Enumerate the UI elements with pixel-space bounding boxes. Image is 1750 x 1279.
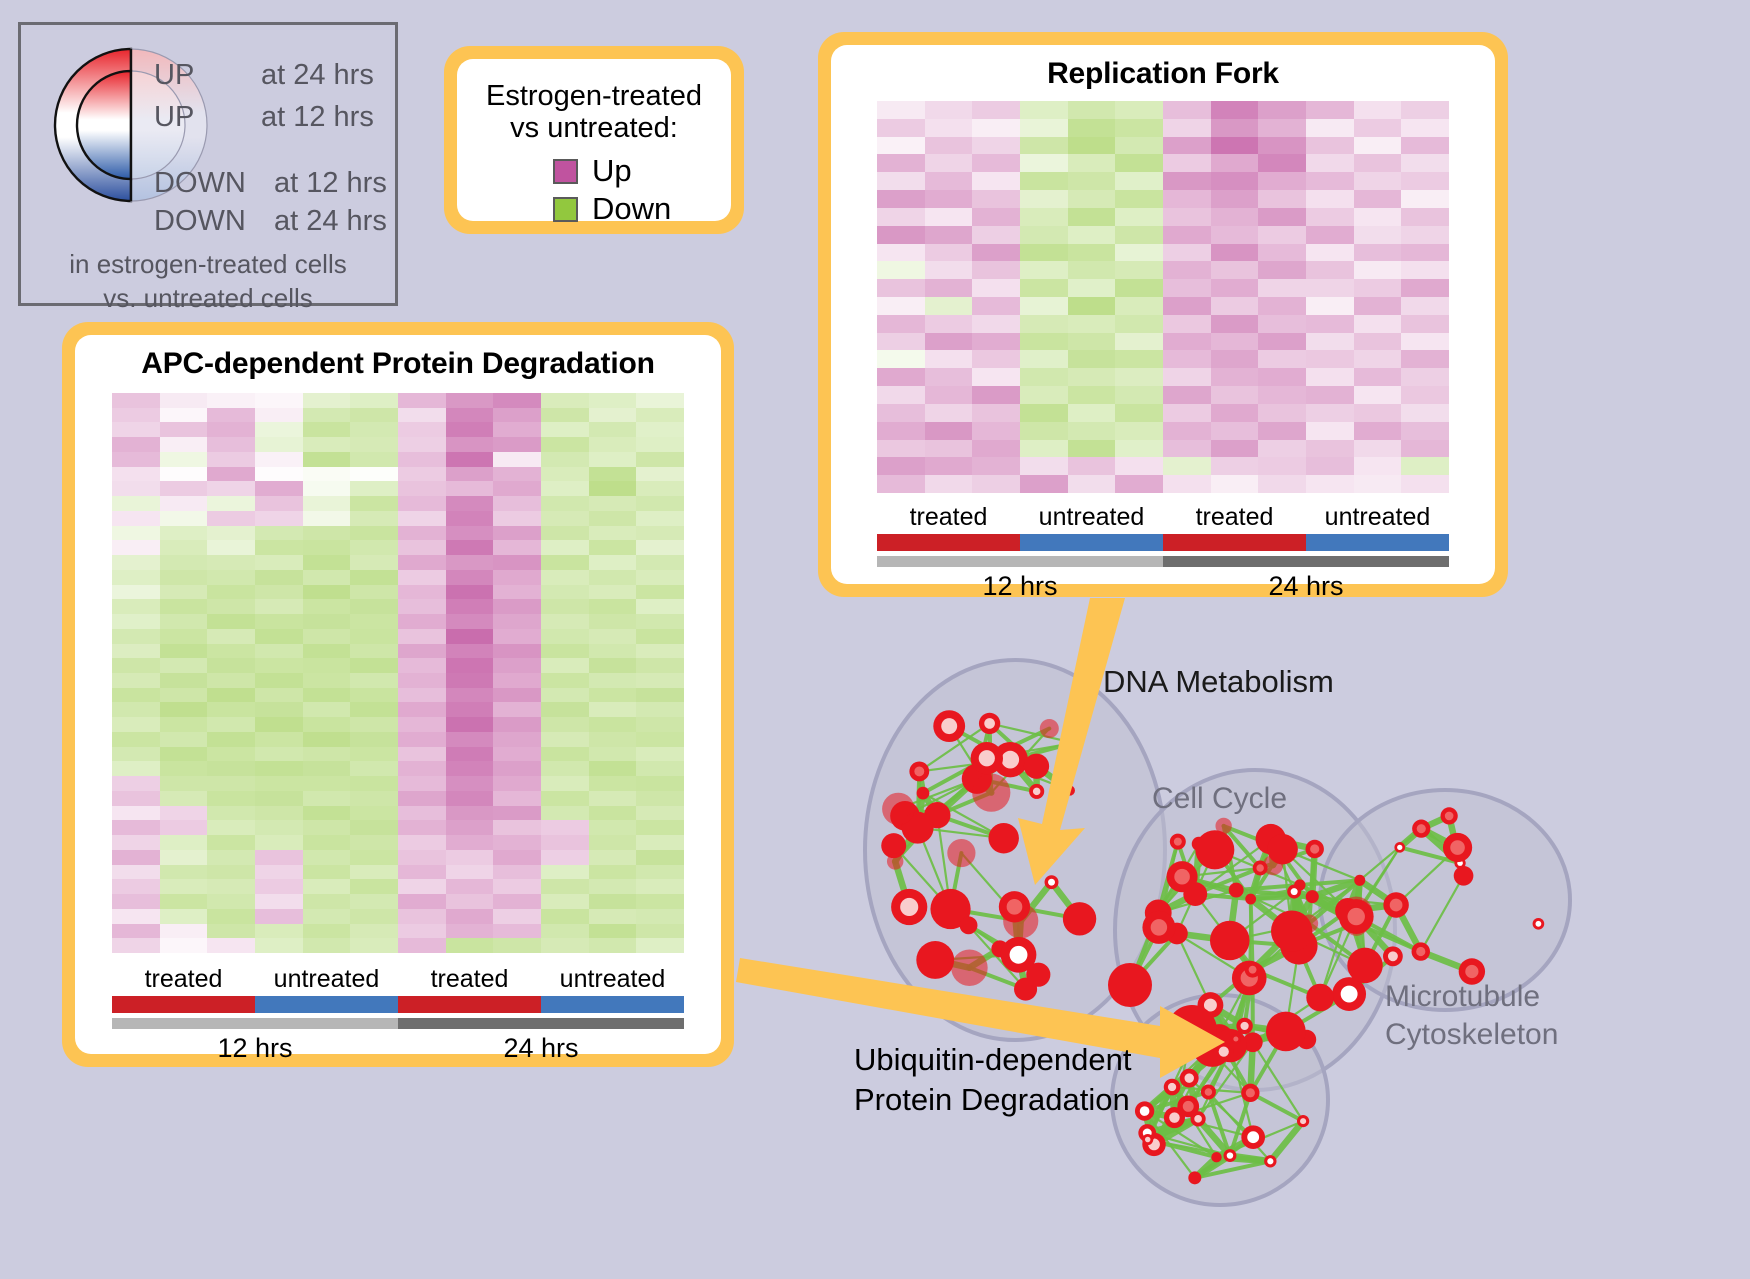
heatmap-cell [493, 570, 541, 585]
sample-label-untreated-24: untreated [1306, 503, 1449, 532]
heatmap-cell [446, 585, 494, 600]
heatmap-cell [398, 909, 446, 924]
color-key-footer-line1: in estrogen-treated cells [21, 247, 395, 281]
heatmap-cell [1115, 333, 1163, 351]
heatmap-cell [589, 806, 637, 821]
heatmap-cell [255, 526, 303, 541]
heatmap-cell [112, 717, 160, 732]
heatmap-cell [160, 437, 208, 452]
heatmap-cell [925, 297, 973, 315]
heatmap-cell [493, 496, 541, 511]
heatmap-cell [925, 137, 973, 155]
heatmap-cell [589, 540, 637, 555]
heatmap-cell [541, 408, 589, 423]
heatmap-cell [160, 688, 208, 703]
heatmap-cell [160, 894, 208, 909]
heatmap-cell [1020, 261, 1068, 279]
heatmap-cell [541, 599, 589, 614]
heatmap-cell [589, 437, 637, 452]
heatmap-cell [398, 747, 446, 762]
heatmap-cell [350, 924, 398, 939]
heatmap-cell [112, 408, 160, 423]
heatmap-cell [1115, 190, 1163, 208]
heatmap-cell [493, 585, 541, 600]
heatmap-cell [972, 386, 1020, 404]
heatmap-cell [303, 806, 351, 821]
heatmap-cell [207, 717, 255, 732]
heatmap-cell [1401, 422, 1449, 440]
cluster-label-dna-metabolism: DNA Metabolism [1103, 664, 1334, 700]
heatmap-cell [1354, 457, 1402, 475]
heatmap-cell [925, 404, 973, 422]
heatmap-cell [1211, 457, 1259, 475]
heatmap-cell [1163, 404, 1211, 422]
heatmap-cell [398, 702, 446, 717]
heatmap-cell [1401, 154, 1449, 172]
heatmap-cell [255, 909, 303, 924]
heatmap-cell [636, 644, 684, 659]
heatmap-cell [1211, 315, 1259, 333]
heatmap-cell [541, 467, 589, 482]
heatmap-cell [493, 791, 541, 806]
bar-time-24 [1163, 556, 1449, 567]
heatmap-cell [1401, 261, 1449, 279]
heatmap-cell [877, 137, 925, 155]
heatmap-cell [350, 408, 398, 423]
heatmap-cell [493, 688, 541, 703]
heatmap-cell [541, 393, 589, 408]
heatmap-cell [446, 570, 494, 585]
heatmap-cell [255, 452, 303, 467]
heatmap-cell [1211, 368, 1259, 386]
heatmap-cell [446, 717, 494, 732]
heatmap-cell [877, 172, 925, 190]
heatmap-cell [446, 452, 494, 467]
heatmap-cell [925, 350, 973, 368]
bar-untreated-12 [255, 996, 398, 1013]
heatmap-cell [1354, 208, 1402, 226]
heatmap-cell [112, 481, 160, 496]
panel-title-replication-fork: Replication Fork [831, 45, 1495, 91]
heatmap-cell [303, 393, 351, 408]
heatmap-cell [541, 540, 589, 555]
heatmap-cell [1306, 475, 1354, 493]
heatmap-cell [112, 658, 160, 673]
legend-box: Estrogen-treated vs untreated: Up Down [444, 46, 744, 234]
heatmap-cell [1401, 208, 1449, 226]
heatmap-cell [398, 467, 446, 482]
heatmap-cell [207, 879, 255, 894]
bar-untreated-24 [541, 996, 684, 1013]
heatmap-cell [255, 702, 303, 717]
heatmap-cell [589, 673, 637, 688]
sample-label-treated-24: treated [1163, 503, 1306, 532]
heatmap-cell [1258, 244, 1306, 262]
heatmap-cell [112, 496, 160, 511]
heatmap-cell [1258, 386, 1306, 404]
heatmap-cell [207, 452, 255, 467]
heatmap-cell [1163, 190, 1211, 208]
heatmap-cell [1068, 101, 1116, 119]
heatmap-cell [972, 368, 1020, 386]
heatmap-cell [1306, 101, 1354, 119]
heatmap-cell [350, 909, 398, 924]
heatmap-cell [541, 644, 589, 659]
heatmap-cell [925, 154, 973, 172]
heatmap-cell [398, 422, 446, 437]
panel-replication-fork: Replication Fork treated untreated treat… [818, 32, 1508, 597]
heatmap-cell [1020, 190, 1068, 208]
heatmap-cell [877, 119, 925, 137]
heatmap-cell [207, 924, 255, 939]
heatmap-cell [1020, 279, 1068, 297]
heatmap-cell [112, 806, 160, 821]
heatmap-cell [636, 924, 684, 939]
heatmap-cell [1401, 226, 1449, 244]
heatmap-cell [112, 599, 160, 614]
heatmap-cell [636, 761, 684, 776]
heatmap-cell [207, 422, 255, 437]
heatmap-cell [350, 644, 398, 659]
heatmap-cell [207, 393, 255, 408]
heatmap-cell [972, 297, 1020, 315]
heatmap-cell [1163, 457, 1211, 475]
heatmap-cell [303, 629, 351, 644]
heatmap-cell [446, 511, 494, 526]
heatmap-cell [493, 629, 541, 644]
heatmap-cell [589, 909, 637, 924]
heatmap-cell [1020, 172, 1068, 190]
heatmap-cell [1258, 137, 1306, 155]
heatmap-cell [398, 894, 446, 909]
heatmap-cell [1306, 190, 1354, 208]
heatmap-cell [541, 894, 589, 909]
heatmap-cell [636, 732, 684, 747]
heatmap-cell [303, 791, 351, 806]
heatmap-cell [877, 226, 925, 244]
heatmap-cell [112, 850, 160, 865]
heatmap-cell [541, 850, 589, 865]
heatmap-cell [589, 644, 637, 659]
heatmap-cell [541, 747, 589, 762]
heatmap-cell [303, 570, 351, 585]
heatmap-cell [112, 673, 160, 688]
heatmap-cell [925, 261, 973, 279]
heatmap-cell [255, 850, 303, 865]
heatmap-cell [541, 791, 589, 806]
heatmap-cell [446, 850, 494, 865]
heatmap-cell [446, 879, 494, 894]
heatmap-cell [207, 585, 255, 600]
heatmap-cell [636, 629, 684, 644]
heatmap-cell [207, 732, 255, 747]
heatmap-cell [303, 511, 351, 526]
heatmap-cell [636, 422, 684, 437]
heatmap-cell [303, 599, 351, 614]
heatmap-cell [972, 190, 1020, 208]
heatmap-cell [160, 496, 208, 511]
heatmap-cell [636, 776, 684, 791]
heatmap-cell [1020, 226, 1068, 244]
heatmap-cell [350, 761, 398, 776]
heatmap-cell [1354, 404, 1402, 422]
heatmap-cell [636, 673, 684, 688]
heatmap-cell [1354, 440, 1402, 458]
heatmap-cell [112, 791, 160, 806]
heatmap-cell [1354, 101, 1402, 119]
sample-label-treated-24: treated [398, 965, 541, 994]
heatmap-cell [446, 599, 494, 614]
heatmap-cell [493, 599, 541, 614]
heatmap-cell [493, 924, 541, 939]
bar-untreated-12 [1020, 534, 1163, 551]
legend-swatch-up-icon [553, 159, 578, 184]
heatmap-cell [160, 820, 208, 835]
heatmap-cell [1211, 101, 1259, 119]
heatmap-cell [255, 938, 303, 953]
heatmap-cell [972, 350, 1020, 368]
heatmap-cell [541, 570, 589, 585]
heatmap-cell [541, 511, 589, 526]
heatmap-cell [493, 540, 541, 555]
heatmap-cell [350, 629, 398, 644]
heatmap-cell [636, 820, 684, 835]
heatmap-cell [1306, 440, 1354, 458]
heatmap-cell [303, 702, 351, 717]
heatmap-cell [493, 614, 541, 629]
heatmap-cell [1115, 154, 1163, 172]
heatmap-cell [446, 614, 494, 629]
heatmap-cell [972, 208, 1020, 226]
heatmap-cell [1401, 457, 1449, 475]
heatmap-cell [589, 526, 637, 541]
heatmap-cell [636, 658, 684, 673]
heatmap-cell [398, 570, 446, 585]
heatmap-cell [925, 101, 973, 119]
heatmap-cell [446, 437, 494, 452]
heatmap-cell [255, 644, 303, 659]
heatmap-cell [636, 909, 684, 924]
heatmap-cell [112, 761, 160, 776]
sample-annotation-apc: treated untreated treated untreated 12 h… [112, 965, 684, 1064]
heatmap-cell [589, 688, 637, 703]
heatmap-cell [1401, 350, 1449, 368]
heatmap-cell [925, 315, 973, 333]
bar-treated-12 [877, 534, 1020, 551]
heatmap-cell [207, 437, 255, 452]
heatmap-cell [255, 555, 303, 570]
heatmap-cell [303, 496, 351, 511]
heatmap-cell [1354, 190, 1402, 208]
heatmap-cell [160, 393, 208, 408]
heatmap-cell [541, 526, 589, 541]
heatmap-cell [1211, 440, 1259, 458]
heatmap-cell [350, 865, 398, 880]
heatmap-cell [446, 422, 494, 437]
heatmap-cell [541, 688, 589, 703]
heatmap-cell [303, 540, 351, 555]
heatmap-cell [303, 437, 351, 452]
bar-treated-24 [398, 996, 541, 1013]
heatmap-cell [1211, 279, 1259, 297]
heatmap-cell [636, 688, 684, 703]
heatmap-cell [1020, 333, 1068, 351]
heatmap-cell [1068, 422, 1116, 440]
heatmap-cell [1401, 333, 1449, 351]
heatmap-cell [1354, 119, 1402, 137]
heatmap-cell [1211, 475, 1259, 493]
heatmap-cell [207, 835, 255, 850]
heatmap-cell [160, 865, 208, 880]
heatmap-cell [589, 511, 637, 526]
heatmap-cell [303, 732, 351, 747]
heatmap-cell [207, 467, 255, 482]
sample-label-treated-12: treated [877, 503, 1020, 532]
heatmap-cell [1258, 172, 1306, 190]
heatmap-cell [1211, 154, 1259, 172]
heatmap-cell [1354, 154, 1402, 172]
heatmap-cell [112, 540, 160, 555]
heatmap-cell [112, 644, 160, 659]
heatmap-cell [350, 717, 398, 732]
heatmap-cell [1020, 475, 1068, 493]
heatmap-cell [303, 761, 351, 776]
heatmap-cell [350, 481, 398, 496]
heatmap-cell [207, 599, 255, 614]
heatmap-cell [207, 408, 255, 423]
heatmap-cell [541, 732, 589, 747]
heatmap-cell [207, 865, 255, 880]
heatmap-cell [1258, 190, 1306, 208]
heatmap-cell [112, 747, 160, 762]
heatmap-cell [255, 688, 303, 703]
heatmap-cell [541, 909, 589, 924]
heatmap-cell [1115, 261, 1163, 279]
heatmap-cell [1211, 244, 1259, 262]
heatmap-cell [112, 452, 160, 467]
heatmap-cell [398, 481, 446, 496]
heatmap-cell [1306, 226, 1354, 244]
heatmap-cell [303, 717, 351, 732]
heatmap-cell [493, 850, 541, 865]
heatmap-cell [1401, 297, 1449, 315]
sample-annotation-replication-fork: treated untreated treated untreated 12 h… [877, 503, 1449, 602]
heatmap-cell [1068, 475, 1116, 493]
heatmap-cell [925, 368, 973, 386]
heatmap-cell [255, 806, 303, 821]
heatmap-cell [1258, 350, 1306, 368]
heatmap-cell [1020, 154, 1068, 172]
heatmap-cell [1258, 333, 1306, 351]
heatmap-cell [1211, 404, 1259, 422]
heatmap-cell [925, 226, 973, 244]
heatmap-cell [589, 422, 637, 437]
heatmap-cell [541, 835, 589, 850]
heatmap-cell [350, 658, 398, 673]
heatmap-cell [398, 452, 446, 467]
heatmap-cell [1115, 315, 1163, 333]
heatmap-cell [303, 924, 351, 939]
heatmap-cell [541, 658, 589, 673]
heatmap-cell [589, 879, 637, 894]
heatmap-cell [1163, 333, 1211, 351]
heatmap-cell [1163, 315, 1211, 333]
heatmap-cell [160, 570, 208, 585]
heatmap-cell [1068, 404, 1116, 422]
heatmap-cell [1306, 315, 1354, 333]
time-label-12: 12 hrs [877, 571, 1163, 602]
heatmap-cell [303, 673, 351, 688]
heatmap-cell [112, 894, 160, 909]
heatmap-cell [1211, 172, 1259, 190]
heatmap-cell [925, 279, 973, 297]
heatmap-cell [1258, 315, 1306, 333]
heatmap-cell [1020, 350, 1068, 368]
heatmap-cell [877, 404, 925, 422]
heatmap-cell [636, 835, 684, 850]
heatmap-cell [1163, 119, 1211, 137]
heatmap-cell [446, 791, 494, 806]
heatmap-cell [877, 190, 925, 208]
heatmap-cell [350, 747, 398, 762]
heatmap-cell [398, 717, 446, 732]
heatmap-cell [350, 732, 398, 747]
heatmap-cell [1354, 386, 1402, 404]
heatmap-cell [1163, 172, 1211, 190]
heatmap-cell [1068, 190, 1116, 208]
heatmap-cell [877, 315, 925, 333]
heatmap-cell [589, 658, 637, 673]
heatmap-cell [589, 481, 637, 496]
heatmap-cell [1354, 333, 1402, 351]
heatmap-cell [1306, 208, 1354, 226]
heatmap-cell [446, 732, 494, 747]
heatmap-cell [207, 938, 255, 953]
heatmap-cell [398, 599, 446, 614]
heatmap-cell [160, 614, 208, 629]
heatmap-cell [350, 776, 398, 791]
heatmap-cell [255, 467, 303, 482]
heatmap-cell [972, 475, 1020, 493]
heatmap-cell [446, 924, 494, 939]
treatment-color-bar [112, 996, 684, 1013]
heatmap-cell [541, 437, 589, 452]
heatmap-cell [446, 865, 494, 880]
heatmap-cell [541, 481, 589, 496]
heatmap-cell [877, 101, 925, 119]
heatmap-cell [160, 732, 208, 747]
heatmap-cell [160, 408, 208, 423]
legend-swatch-down-icon [553, 197, 578, 222]
heatmap-cell [1068, 137, 1116, 155]
gene-network-diagram [800, 600, 1750, 1279]
heatmap-cell [207, 850, 255, 865]
heatmap-cell [1163, 261, 1211, 279]
heatmap-cell [350, 938, 398, 953]
heatmap-cell [1068, 297, 1116, 315]
heatmap-cell [160, 481, 208, 496]
heatmap-cell [303, 422, 351, 437]
heatmap-cell [589, 924, 637, 939]
heatmap-cell [1068, 154, 1116, 172]
heatmap-cell [1306, 297, 1354, 315]
heatmap-cell [112, 437, 160, 452]
heatmap-cell [972, 457, 1020, 475]
heatmap-cell [207, 555, 255, 570]
heatmap-cell [925, 440, 973, 458]
panel-title-apc-degradation: APC-dependent Protein Degradation [75, 335, 721, 381]
heatmap-cell [877, 244, 925, 262]
